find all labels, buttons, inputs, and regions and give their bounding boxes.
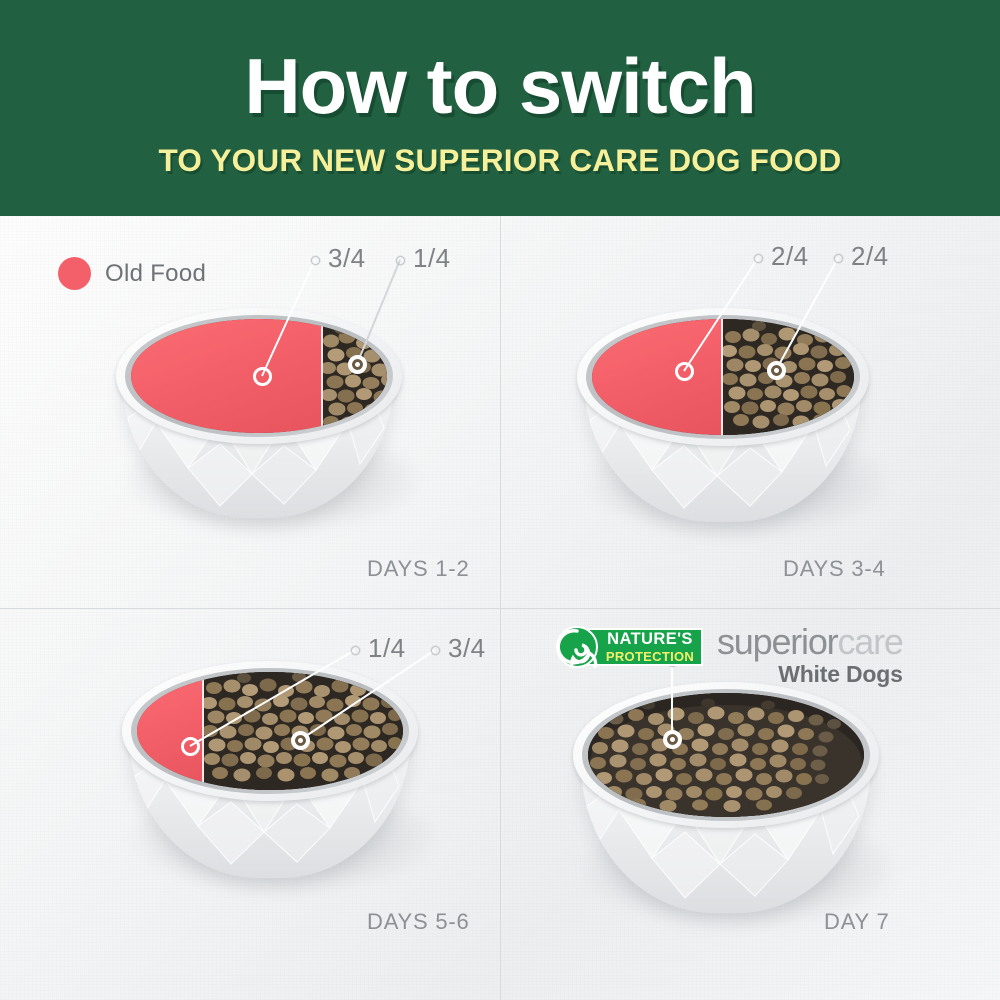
care-text: care xyxy=(837,621,902,662)
leader-line-old xyxy=(0,608,500,1000)
callout-label-new-3: 3/4 xyxy=(448,633,486,664)
day-label-1: DAYS 1-2 xyxy=(367,556,470,582)
day-label-2: DAYS 3-4 xyxy=(783,556,886,582)
callout-target-old xyxy=(181,737,200,756)
spiral-icon xyxy=(555,626,599,668)
white-dogs-tagline: White Dogs xyxy=(717,661,903,688)
callout-target-new xyxy=(291,731,310,750)
callout-label-new-1: 1/4 xyxy=(413,243,451,274)
page-subtitle: TO YOUR NEW SUPERIOR CARE DOG FOOD xyxy=(159,145,842,177)
superior-care-line: superiorcare xyxy=(717,624,903,660)
infographic-root: How to switch TO YOUR NEW SUPERIOR CARE … xyxy=(0,0,1000,1000)
panel-grid: Old Food xyxy=(0,216,1000,1000)
panel-days-5-6: 1/4 3/4 DAYS 5-6 xyxy=(0,608,500,1000)
callout-ring-old xyxy=(311,256,320,265)
callout-label-new-2: 2/4 xyxy=(851,241,889,272)
leader-line-old xyxy=(0,216,500,608)
callout-target-old xyxy=(675,362,694,381)
callout-label-old-3: 1/4 xyxy=(368,633,406,664)
natures-protection-box: NATURE'S PROTECTION xyxy=(583,628,703,666)
callout-target-new xyxy=(767,361,786,380)
callout-ring-new xyxy=(834,254,843,263)
callout-ring-old xyxy=(351,646,360,655)
superior-care-wordmark: superiorcare White Dogs xyxy=(717,624,903,688)
callout-ring-old xyxy=(754,254,763,263)
superior-text: superior xyxy=(717,621,837,662)
day-label-3: DAYS 5-6 xyxy=(367,909,470,935)
natures-protection-line1: NATURE'S xyxy=(607,631,693,648)
panel-days-1-2: Old Food xyxy=(0,216,500,608)
panel-day-7: NATURE'S PROTECTION superiorcare White D… xyxy=(500,608,1000,1000)
brand-lockup: NATURE'S PROTECTION superiorcare White D… xyxy=(555,626,903,688)
natures-protection-line2: PROTECTION xyxy=(606,650,694,663)
callout-ring-new xyxy=(396,256,405,265)
callout-target-new xyxy=(348,355,367,374)
callout-ring-new xyxy=(431,646,440,655)
natures-protection-logo: NATURE'S PROTECTION xyxy=(555,626,703,668)
callout-target-old xyxy=(253,367,272,386)
header-banner: How to switch TO YOUR NEW SUPERIOR CARE … xyxy=(0,0,1000,216)
leader-line-old xyxy=(500,216,1000,608)
day-label-4: DAY 7 xyxy=(824,909,890,935)
callout-label-old-1: 3/4 xyxy=(328,243,366,274)
callout-target-new xyxy=(663,730,682,749)
page-title: How to switch xyxy=(244,47,755,125)
callout-label-old-2: 2/4 xyxy=(771,241,809,272)
panel-days-3-4: 2/4 2/4 DAYS 3-4 xyxy=(500,216,1000,608)
